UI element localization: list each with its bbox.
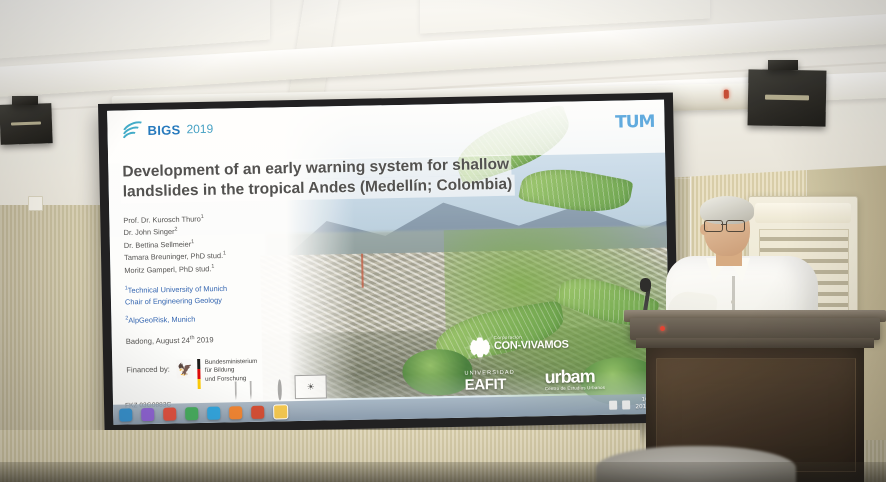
taskbar-spacer xyxy=(297,405,600,411)
speaker-mount-left xyxy=(12,96,38,105)
speaker-slot xyxy=(11,121,40,126)
battery-icon[interactable] xyxy=(609,400,617,409)
bigs-logo-text: BIGS xyxy=(147,122,180,138)
status-led-icon xyxy=(724,90,729,99)
shirt-button xyxy=(731,300,735,304)
edge-icon[interactable] xyxy=(229,406,242,419)
urbam-logo: urbam Centro de Estudios Urbanos xyxy=(544,367,605,392)
tum-logo: TUM xyxy=(615,112,655,133)
german-flag-icon xyxy=(198,359,202,389)
eafit-logo: UNIVERSIDAD EAFIT xyxy=(464,371,515,394)
author-item: Moritz Gamperl, PhD stud.1 xyxy=(124,262,226,276)
partner-logo-weather: ☀ xyxy=(294,374,326,399)
eyeglasses-icon xyxy=(704,220,746,230)
bigs-logo: BIGS 2019 xyxy=(121,120,213,140)
projection-screen: BIGS 2019 TUM Development of an early wa… xyxy=(107,100,670,425)
author-list: Prof. Dr. Kurosch Thuro1 Dr. John Singer… xyxy=(123,212,226,276)
foreground-shadow xyxy=(0,462,886,482)
financed-by-label: Financed by: xyxy=(126,360,170,375)
store-icon[interactable] xyxy=(141,407,154,420)
explorer-icon[interactable] xyxy=(273,404,288,419)
speaker-mount-right xyxy=(768,60,798,70)
lecture-hall-photo: BIGS 2019 TUM Development of an early wa… xyxy=(0,0,886,482)
wall-speaker-right xyxy=(748,69,827,126)
partner-logo-shield-b xyxy=(250,382,252,400)
microphone-icon xyxy=(640,278,651,292)
wall-speaker-left xyxy=(0,103,53,145)
bigs-logo-year: 2019 xyxy=(186,122,213,137)
podium-edge xyxy=(636,338,874,348)
partner-logo-seal xyxy=(278,381,282,399)
federal-eagle-icon: 🦅 xyxy=(177,359,194,378)
podium-indicator-led xyxy=(660,326,665,331)
skype-icon[interactable] xyxy=(207,406,220,419)
venue-date: Badong, August 24th 2019 xyxy=(126,335,214,346)
affiliation-secondary: 2AlpGeoRisk, Munich xyxy=(125,314,195,325)
powerpoint-icon[interactable] xyxy=(251,405,264,418)
slide-content: BIGS 2019 TUM Development of an early wa… xyxy=(107,100,670,425)
recorder-icon[interactable] xyxy=(163,407,176,420)
projection-screen-frame: BIGS 2019 TUM Development of an early wa… xyxy=(98,92,680,433)
podium-top xyxy=(630,318,880,340)
convivamos-logo: Corporación CON-VIVAMOS xyxy=(494,334,569,352)
bigs-wave-icon xyxy=(121,121,143,139)
wall-switch-plate[interactable] xyxy=(28,196,43,211)
excel-icon[interactable] xyxy=(185,407,198,420)
browser-icon[interactable] xyxy=(119,408,132,421)
partner-logo-shield-a xyxy=(235,382,237,400)
affiliation-primary: 1Technical University of Munich Chair of… xyxy=(125,282,228,308)
slide-title: Development of an early warning system f… xyxy=(120,152,655,204)
speaker-slot xyxy=(765,94,809,100)
